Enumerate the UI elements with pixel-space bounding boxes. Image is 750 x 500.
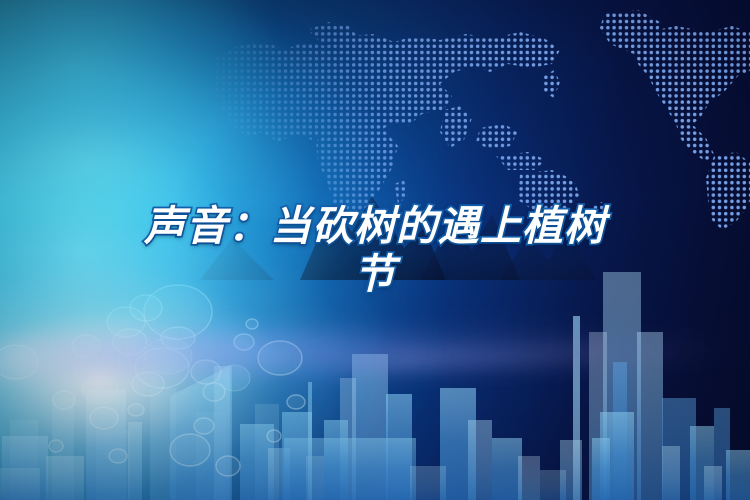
title-line-2: 节 <box>0 250 750 298</box>
banner-title: 声音：当砍树的遇上植树 节 <box>0 202 750 298</box>
banner-canvas: 声音：当砍树的遇上植树 节 <box>0 0 750 500</box>
title-line-1: 声音：当砍树的遇上植树 <box>0 202 750 250</box>
